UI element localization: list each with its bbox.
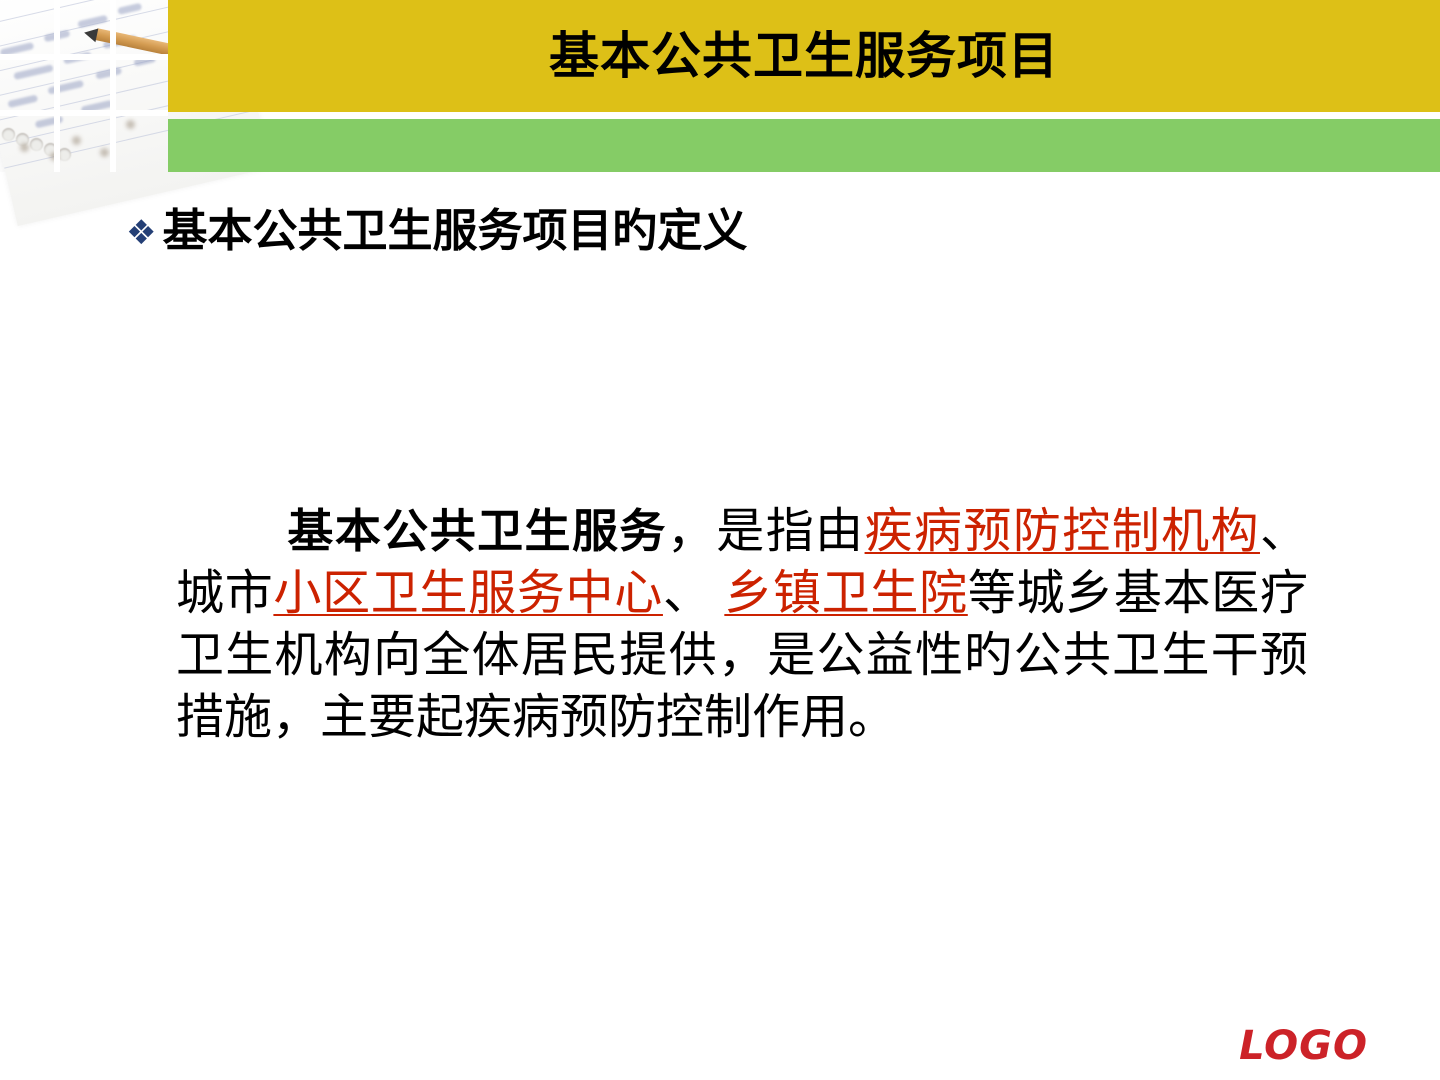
section-heading-label: 基本公共卫生服务项目旳定义 [162,206,747,256]
highlighted-term: 小区卫生服务中心 [273,567,663,620]
paragraph-text: 、 [663,567,724,620]
paragraph-text: ，是指由 [667,505,865,558]
page-title: 基本公共卫生服务项目 [168,0,1440,112]
slide-header: 基本公共卫生服务项目 [0,0,1440,172]
highlighted-term: 乡镇卫生院 [724,567,967,620]
header-photo-collage [0,0,168,172]
highlighted-term: 疾病预防控制机构 [865,505,1260,558]
collage-photograph [0,0,168,172]
logo-watermark: LOGO [1239,1026,1368,1066]
accent-band [168,119,1440,172]
diamond-bullet-icon: ❖ [126,216,156,250]
definition-paragraph: 基本公共卫生服务，是指由疾病预防控制机构、城市小区卫生服务中心、 乡镇卫生院等城… [176,500,1308,749]
term-emphasis: 基本公共卫生服务 [286,504,667,558]
slide-canvas: 基本公共卫生服务项目 ❖ 基本公共卫生服务项目旳定义 基本公共卫生服务，是指由疾… [0,0,1440,1080]
section-heading: ❖ 基本公共卫生服务项目旳定义 [126,206,748,256]
